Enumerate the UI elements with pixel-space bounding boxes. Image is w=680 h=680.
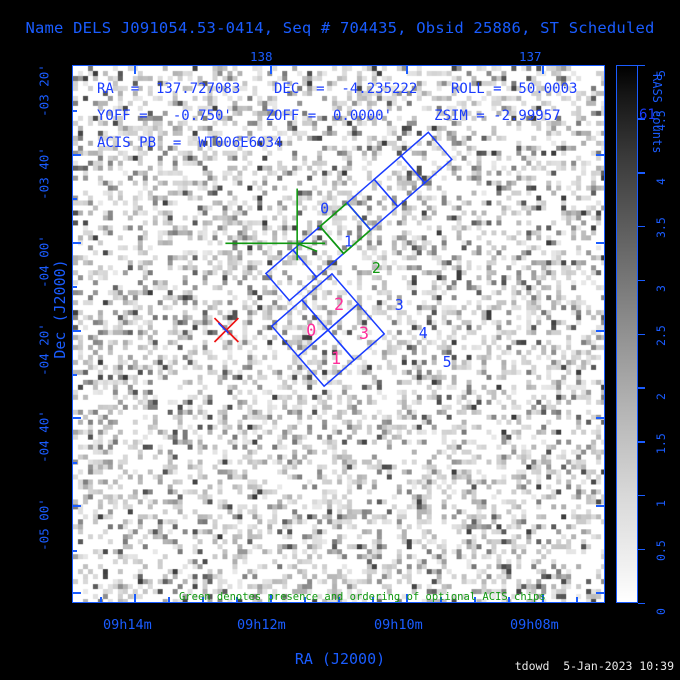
colorbar-tick-2: 1 <box>654 500 668 507</box>
target-blue-tick <box>218 323 228 333</box>
colorbar-tick-7: 3.5 <box>654 218 668 239</box>
x-minor-tick <box>168 597 170 603</box>
x-minor-tick <box>100 597 102 603</box>
y-tick-mark-5-right <box>596 592 605 594</box>
chip-label-i0: 0 <box>306 320 316 340</box>
colorbar-tick-5: 2.5 <box>654 325 668 346</box>
y-minor-tick <box>72 286 77 288</box>
aimpoint-green-cross <box>225 189 325 261</box>
colorbar-tick-0: 0 <box>654 608 668 615</box>
y-tick-mark-2-left <box>72 330 81 332</box>
y-tick-mark-3-left <box>72 417 81 419</box>
y-axis-tick-4: -04 40' <box>37 387 52 487</box>
colorbar-tick-mark-6 <box>638 280 645 282</box>
param-line-ra-dec-roll: RA = 137.727083 DEC = -4.235222 ROLL = 5… <box>97 81 577 97</box>
chip-label-s5: 5 <box>443 353 452 371</box>
y-tick-mark-0-left <box>72 154 81 156</box>
colorbar-tick-mark-0 <box>638 603 645 605</box>
colorbar-tick-8: 4 <box>654 178 668 185</box>
top-axis-tick-0: 138 <box>250 49 273 64</box>
y-axis-tick-1: -03 40' <box>37 124 52 224</box>
colorbar-tick-mark-5 <box>638 334 645 336</box>
y-axis-title: Dec (J2000) <box>51 229 69 389</box>
colorbar-tick-mark-2 <box>638 495 645 497</box>
x-tick-mark-0-top <box>134 65 136 74</box>
colorbar[interactable] <box>616 65 638 603</box>
y-tick-mark-2-right <box>596 330 605 332</box>
chip-label-s4: 4 <box>419 324 428 342</box>
chip-label-s2: 2 <box>372 259 381 277</box>
y-minor-tick <box>72 550 77 552</box>
x-tick-mark-1-top <box>270 65 272 74</box>
colorbar-tick-10: 5 <box>654 70 668 77</box>
chip-label-i2: 2 <box>334 294 344 314</box>
x-tick-mark-0-bottom <box>134 594 136 603</box>
colorbar-tick-mark-8 <box>638 172 645 174</box>
y-minor-tick <box>72 374 77 376</box>
y-minor-tick <box>72 462 77 464</box>
colorbar-tick-mark-4 <box>638 387 645 389</box>
y-tick-mark-5-left <box>72 592 81 594</box>
colorbar-tick-1: 0.5 <box>654 540 668 561</box>
y-minor-tick <box>72 198 77 200</box>
param-line-yoff-zoff-zsim: YOFF = -0.750' ZOFF = 0.0000' ZSIM = -2.… <box>97 108 561 124</box>
y-tick-mark-4-left <box>72 505 81 507</box>
x-minor-tick <box>576 597 578 603</box>
y-tick-mark-1-right <box>596 242 605 244</box>
param-line-acis-pb: ACIS PB = WT006E6034 <box>97 135 282 151</box>
param-overflow-right: 61 <box>639 107 656 123</box>
y-minor-tick <box>72 110 77 112</box>
chip-label-i1: 1 <box>331 348 341 368</box>
y-tick-mark-4-right <box>596 505 605 507</box>
top-axis-tick-1: 137 <box>519 49 542 64</box>
colorbar-tick-mark-3 <box>638 441 645 443</box>
x-tick-mark-3-top <box>542 65 544 74</box>
colorbar-tick-mark-7 <box>638 226 645 228</box>
x-axis-tick-1: 09h12m <box>237 617 286 633</box>
y-tick-mark-3-right <box>596 417 605 419</box>
x-tick-mark-2-top <box>406 65 408 74</box>
colorbar-tick-mark-10 <box>638 65 645 67</box>
y-axis-tick-3: -04 20' <box>37 300 52 400</box>
chip-label-s1: 1 <box>344 232 353 250</box>
sky-image-plot[interactable]: RA = 137.727083 DEC = -4.235222 ROLL = 5… <box>72 65 605 603</box>
footer-timestamp: tdowd 5-Jan-2023 10:39 <box>515 659 674 673</box>
chip-label-i3: 3 <box>359 323 369 343</box>
y-tick-mark-0-right <box>596 154 605 156</box>
y-tick-mark-1-left <box>72 242 81 244</box>
x-axis-tick-2: 09h10m <box>374 617 423 633</box>
chip-label-s3: 3 <box>395 296 404 314</box>
colorbar-tick-6: 3 <box>654 285 668 292</box>
observation-planning-figure: Name DELS J091054.53-0414, Seq # 704435,… <box>0 0 680 680</box>
colorbar-tick-9: 4.5 <box>654 110 668 131</box>
green-chip-note: Green denotes presence and ordering of o… <box>179 591 546 603</box>
colorbar-tick-mark-1 <box>638 549 645 551</box>
x-axis-tick-3: 09h08m <box>510 617 559 633</box>
y-axis-tick-5: -05 00' <box>37 475 52 575</box>
acis-s-array <box>266 132 452 300</box>
chip-label-s0: 0 <box>320 199 329 217</box>
colorbar-tick-4: 2 <box>654 393 668 400</box>
colorbar-tick-3: 1.5 <box>654 433 668 454</box>
page-title: Name DELS J091054.53-0414, Seq # 704435,… <box>0 19 680 37</box>
y-axis-tick-2: -04 00' <box>37 212 52 312</box>
x-axis-tick-0: 09h14m <box>103 617 152 633</box>
